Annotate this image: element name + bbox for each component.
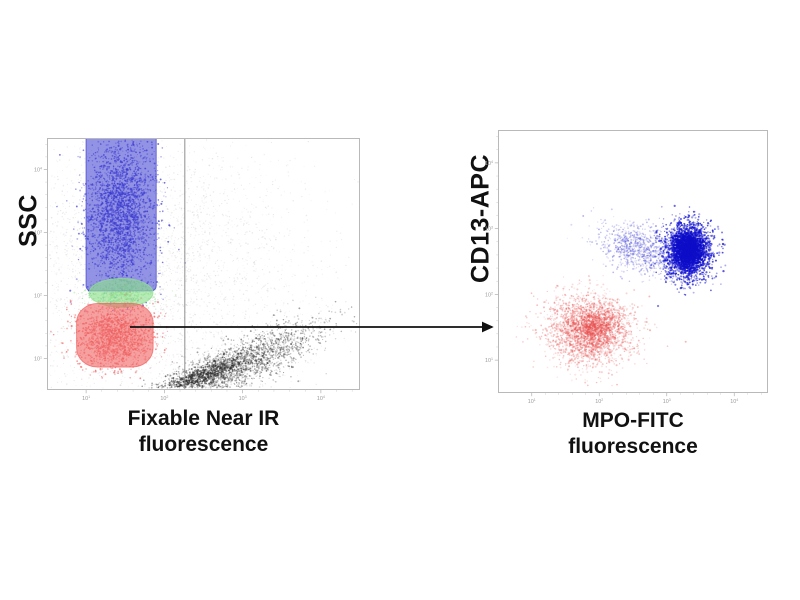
tick-label: 102 [34,293,42,300]
left-scatter-canvas [48,139,359,389]
left-panel: SSC 101102103104101102103104 Fixable Nea… [12,130,372,475]
tick-label: 101 [82,395,90,402]
tick-label: 102 [485,291,493,298]
tick-label: 104 [34,167,42,174]
granulocytes-gate[interactable] [86,139,156,291]
right-x-caption-line2: fluorescence [498,434,768,460]
blasts-gate[interactable] [77,303,154,367]
left-x-caption-line2: fluorescence [47,432,360,458]
right-x-caption-line1: MPO-FITC [498,408,768,434]
tick-label: 102 [160,395,168,402]
tick-label: 101 [485,357,493,364]
flow-cytometry-figure: SSC 101102103104101102103104 Fixable Nea… [0,0,800,600]
left-x-caption-line1: Fixable Near IR [47,406,360,432]
tick-label: 104 [730,398,738,405]
tick-label: 101 [528,398,536,405]
right-plot-area[interactable] [498,130,768,393]
monocytes-gate[interactable] [89,278,153,307]
tick-label: 104 [317,395,325,402]
left-x-caption: Fixable Near IR fluorescence [47,406,360,458]
right-scatter-canvas [499,131,767,392]
right-x-caption: MPO-FITC fluorescence [498,408,768,460]
left-plot-area[interactable] [47,138,360,390]
right-panel: CD13-APC 101102103104101102103104 MPO-FI… [440,122,780,475]
tick-label: 103 [663,398,671,405]
tick-label: 101 [34,356,42,363]
tick-label: 103 [239,395,247,402]
left-y-axis-label: SSC [15,186,44,256]
tick-label: 102 [595,398,603,405]
right-y-axis-label: CD13-APC [467,146,496,292]
